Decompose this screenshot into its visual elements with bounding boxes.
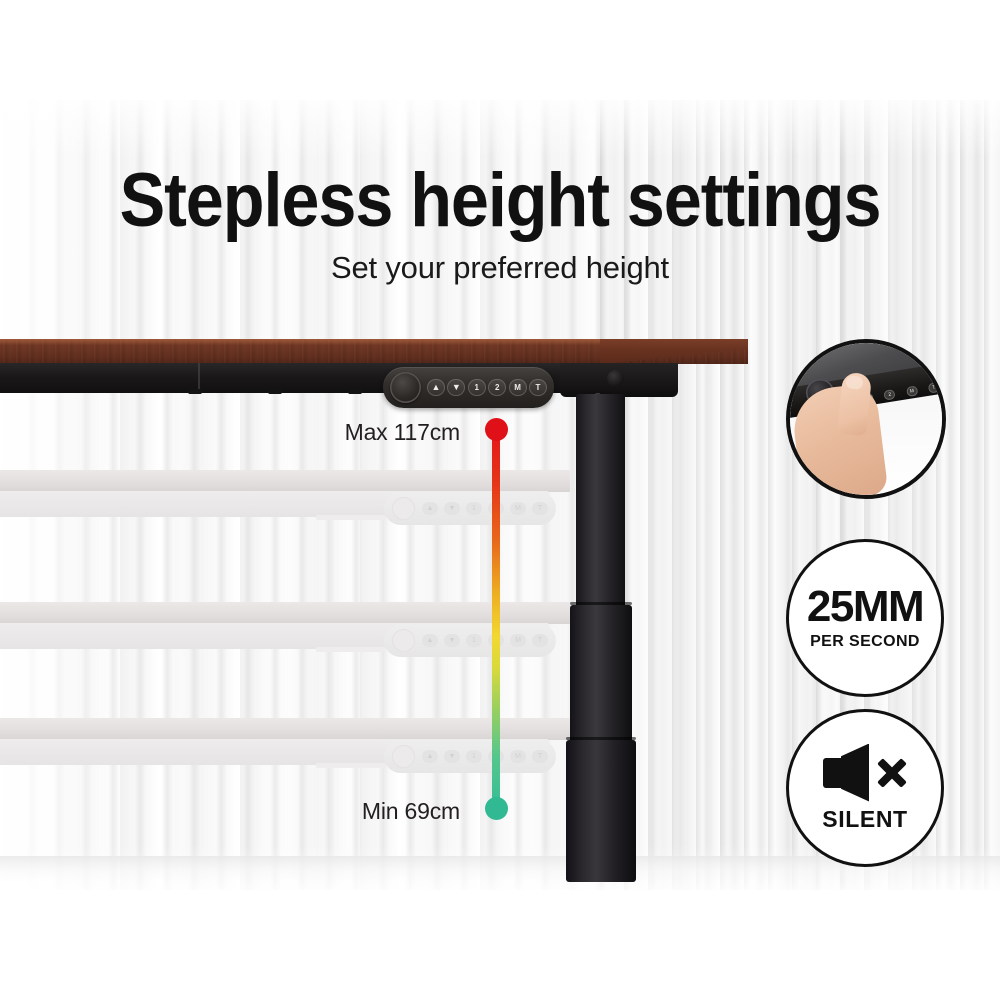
ghost-memory: M xyxy=(510,502,526,515)
ghost-button-row: ▲ ▼ 1 2 M T xyxy=(422,633,548,648)
chevron-down-icon: ▼ xyxy=(452,383,461,392)
min-height-dot xyxy=(485,797,508,820)
ghost-timer: T xyxy=(532,502,548,515)
badge-speed: 25MM PER SECOND xyxy=(786,539,944,697)
ghost-down-icon: ▼ xyxy=(444,750,460,763)
max-height-dot xyxy=(485,418,508,441)
ghost-up-icon: ▲ xyxy=(422,634,438,647)
ghost-button-row: ▲ ▼ 1 2 M T xyxy=(422,749,548,764)
ghost-preset-1: 1 xyxy=(466,634,482,647)
speed-value: 25MM xyxy=(807,585,923,629)
silent-label: SILENT xyxy=(822,806,907,833)
bracket-bolt-icon xyxy=(607,370,624,387)
badge-control-panel-photo: 1 2 M T xyxy=(786,339,946,499)
ghost-button-row: ▲ ▼ 1 2 M T xyxy=(422,501,548,516)
page-title: Stepless height settings xyxy=(50,160,950,242)
ghost-desktop xyxy=(0,718,570,740)
ghost-down-icon: ▼ xyxy=(444,502,460,515)
rail-support-foot xyxy=(268,389,282,394)
ghost-control-knob xyxy=(392,745,415,768)
ghost-rail-foot xyxy=(316,647,386,652)
leg-stage-upper xyxy=(576,394,625,626)
product-marketing-image: Stepless height settings Set your prefer… xyxy=(0,0,1000,1000)
leg-stage-middle xyxy=(570,605,632,750)
preset-1-button[interactable]: 1 xyxy=(468,379,486,396)
ghost-rail-foot xyxy=(316,763,386,768)
photo-timer: T xyxy=(928,382,940,394)
leg-stage-lower xyxy=(566,740,636,882)
height-range-gradient-bar xyxy=(492,426,500,810)
mute-cross-icon xyxy=(875,757,907,789)
ghost-timer: T xyxy=(532,750,548,763)
min-height-label: Min 69cm xyxy=(210,798,460,825)
speaker-cone xyxy=(841,744,869,802)
rail-support-foot xyxy=(188,389,202,394)
up-button[interactable]: ▲ xyxy=(427,379,445,396)
ghost-up-icon: ▲ xyxy=(422,750,438,763)
photo-preset-2: 2 xyxy=(884,389,896,401)
page-subtitle: Set your preferred height xyxy=(0,249,1000,287)
speed-unit: PER SECOND xyxy=(810,633,920,651)
down-button[interactable]: ▼ xyxy=(447,379,465,396)
ghost-desktop xyxy=(0,602,570,624)
control-display-knob[interactable] xyxy=(390,372,421,403)
ghost-down-icon: ▼ xyxy=(444,634,460,647)
ghost-timer: T xyxy=(532,634,548,647)
speaker-mute-icon xyxy=(817,744,913,802)
ghost-rail-foot xyxy=(316,515,386,520)
max-height-label: Max 117cm xyxy=(210,419,460,446)
ghost-memory: M xyxy=(510,750,526,763)
ghost-control-knob xyxy=(392,629,415,652)
ghost-memory: M xyxy=(510,634,526,647)
rail-support-foot xyxy=(348,389,362,394)
ghost-preset-1: 1 xyxy=(466,502,482,515)
ghost-control-knob xyxy=(392,497,415,520)
chevron-up-icon: ▲ xyxy=(432,383,441,392)
ghost-preset-1: 1 xyxy=(466,750,482,763)
timer-button[interactable]: T xyxy=(529,379,547,396)
ghost-up-icon: ▲ xyxy=(422,502,438,515)
photo-memory: M xyxy=(906,385,918,397)
control-button-row: ▲ ▼ 1 2 M T xyxy=(427,377,547,398)
badge-silent: SILENT xyxy=(786,709,944,867)
memory-button[interactable]: M xyxy=(509,379,527,396)
ghost-desktop xyxy=(0,470,570,492)
background-fade-top xyxy=(0,88,1000,158)
preset-2-button[interactable]: 2 xyxy=(488,379,506,396)
